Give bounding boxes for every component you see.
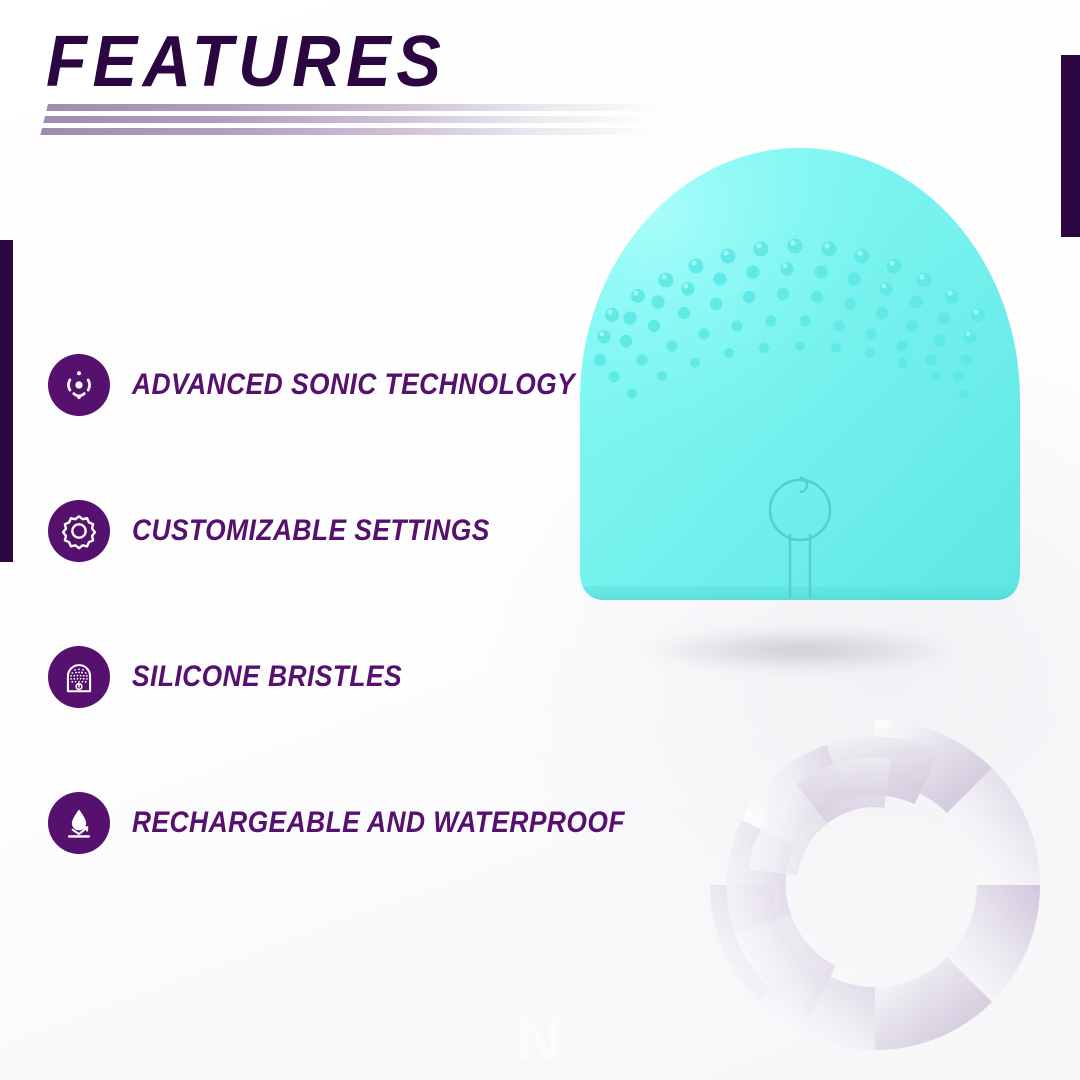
vertical-accent-bar-left xyxy=(0,240,13,562)
feature-label: RECHARGEABLE AND WATERPROOF xyxy=(132,806,625,840)
heading-rule-1 xyxy=(46,104,668,111)
product-image xyxy=(520,120,1080,700)
waterproof-droplet-icon xyxy=(48,792,110,854)
features-poster: FEATURES ADVANCED SONIC TECHNOLOGY xyxy=(0,0,1080,1080)
gear-icon xyxy=(48,500,110,562)
silicone-facial-cleansing-brush xyxy=(520,120,1080,680)
feature-label: SILICONE BRISTLES xyxy=(132,660,402,694)
feature-item-rechargeable-and-waterproof: RECHARGEABLE AND WATERPROOF xyxy=(48,786,648,860)
page-title: FEATURES xyxy=(46,22,641,102)
feature-label: ADVANCED SONIC TECHNOLOGY xyxy=(132,368,575,402)
bristle-device-icon xyxy=(48,646,110,708)
sonic-waves-icon xyxy=(48,354,110,416)
feature-label: CUSTOMIZABLE SETTINGS xyxy=(132,514,490,548)
watermark: N xyxy=(0,1002,1080,1076)
heading-block: FEATURES xyxy=(46,22,686,102)
